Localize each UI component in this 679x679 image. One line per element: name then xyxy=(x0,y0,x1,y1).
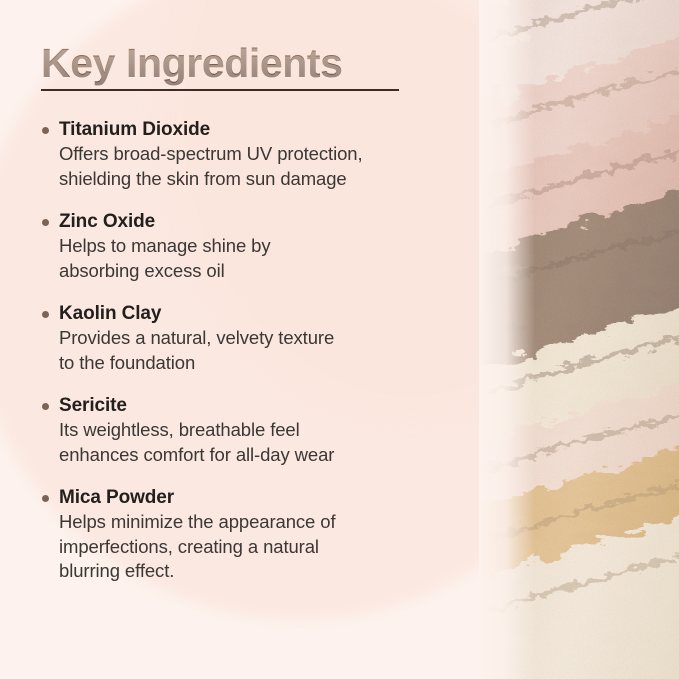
ingredient-description: Helps to manage shine by absorbing exces… xyxy=(59,234,441,283)
ingredient-description: Offers broad-spectrum UV protection, shi… xyxy=(59,142,441,191)
ingredient-name: Mica Powder xyxy=(59,486,441,510)
list-item: Zinc OxideHelps to manage shine by absor… xyxy=(41,210,441,283)
powder-swatch-photo xyxy=(479,0,679,679)
ingredient-name: Zinc Oxide xyxy=(59,210,441,234)
bullet-icon xyxy=(42,127,49,134)
ingredient-description: Its weightless, breathable feel enhances… xyxy=(59,418,441,467)
ingredient-description: Provides a natural, velvety texture to t… xyxy=(59,326,441,375)
list-item: Titanium DioxideOffers broad-spectrum UV… xyxy=(41,118,441,191)
ingredient-description: Helps minimize the appearance of imperfe… xyxy=(59,510,441,584)
list-item: Kaolin ClayProvides a natural, velvety t… xyxy=(41,302,441,375)
page-title-block: Key Ingredients xyxy=(41,38,399,91)
list-item: SericiteIts weightless, breathable feel … xyxy=(41,394,441,467)
content-column: Key Ingredients Titanium DioxideOffers b… xyxy=(0,0,470,679)
page-root: Key Ingredients Titanium DioxideOffers b… xyxy=(0,0,679,679)
title-underline xyxy=(41,89,399,91)
page-title: Key Ingredients xyxy=(41,38,399,88)
bullet-icon xyxy=(42,403,49,410)
list-item: Mica PowderHelps minimize the appearance… xyxy=(41,486,441,584)
bullet-icon xyxy=(42,311,49,318)
ingredient-name: Titanium Dioxide xyxy=(59,118,441,142)
ingredient-name: Kaolin Clay xyxy=(59,302,441,326)
bullet-icon xyxy=(42,495,49,502)
ingredient-name: Sericite xyxy=(59,394,441,418)
ingredient-list: Titanium DioxideOffers broad-spectrum UV… xyxy=(41,118,441,584)
bullet-icon xyxy=(42,219,49,226)
